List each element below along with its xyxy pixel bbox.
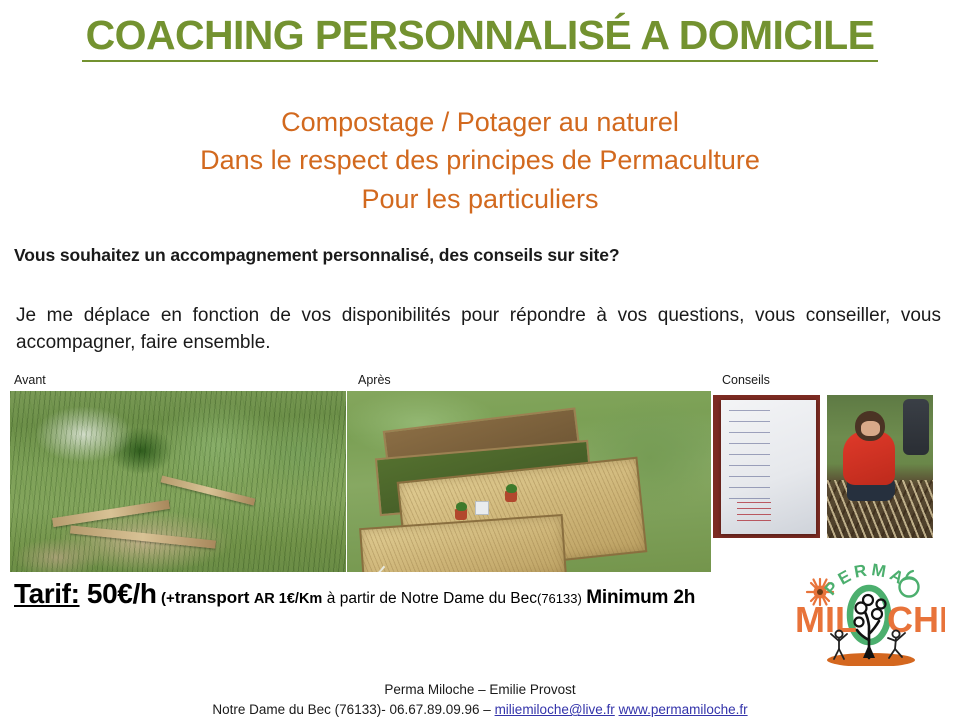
logo-word-right: CHE bbox=[887, 599, 945, 640]
pricing-line: Tarif: 50€/h (+transport AR 1€/Km à part… bbox=[14, 578, 814, 610]
footer-contact-text: Notre Dame du Bec (76133)- 06.67.89.09.9… bbox=[212, 702, 494, 717]
caption-conseils: Conseils bbox=[722, 373, 770, 387]
pricing-minimum: Minimum 2h bbox=[586, 587, 695, 608]
tree-trunk-base bbox=[863, 644, 875, 658]
photo-apres-plant-pot bbox=[455, 509, 467, 520]
pricing-paren-open: (+ bbox=[161, 590, 175, 607]
pricing-price bbox=[80, 578, 87, 609]
subtitle-line-1: Compostage / Potager au naturel bbox=[0, 103, 960, 141]
brand-logo: PERMA MIL CHE bbox=[795, 548, 945, 666]
subtitle-block: Compostage / Potager au naturel Dans le … bbox=[0, 103, 960, 218]
caption-apres: Après bbox=[358, 373, 391, 387]
pricing-ar-rate: AR 1€/Km bbox=[254, 591, 323, 607]
caption-avant: Avant bbox=[14, 373, 46, 387]
title-block: COACHING PERSONNALISÉ A DOMICILE bbox=[0, 14, 960, 62]
pricing-origin: à partir de Notre Dame du Bec bbox=[327, 590, 537, 607]
subtitle-line-3: Pour les particuliers bbox=[0, 180, 960, 218]
photo-notes bbox=[713, 395, 820, 538]
pricing-transport: transport bbox=[175, 588, 250, 607]
photo-apres-white-pot bbox=[475, 501, 489, 515]
website-link[interactable]: www.permamiloche.fr bbox=[619, 702, 748, 717]
email-link[interactable]: miliemiloche@live.fr bbox=[495, 702, 615, 717]
footer: Perma Miloche – Emilie Provost Notre Dam… bbox=[0, 680, 960, 721]
footer-line-1: Perma Miloche – Emilie Provost bbox=[0, 680, 960, 700]
photo-avant bbox=[10, 391, 346, 572]
photo-notes-signature bbox=[737, 502, 771, 524]
page-title: COACHING PERSONNALISÉ A DOMICILE bbox=[82, 14, 879, 62]
photo-personne-background-figure bbox=[903, 399, 929, 455]
photo-personne-face bbox=[861, 421, 880, 436]
photo-apres-plant-pot bbox=[505, 491, 517, 502]
pricing-amount: 50€/h bbox=[87, 578, 157, 609]
photo-apres bbox=[347, 391, 711, 572]
pricing-zip: (76133) bbox=[537, 591, 582, 606]
pricing-label: Tarif: bbox=[14, 578, 80, 609]
photo-personne bbox=[827, 395, 933, 538]
footer-line-2: Notre Dame du Bec (76133)- 06.67.89.09.9… bbox=[0, 700, 960, 720]
logo-arc-text: PERMA bbox=[821, 560, 910, 599]
lead-question: Vous souhaitez un accompagnement personn… bbox=[14, 245, 944, 266]
subtitle-line-2: Dans le respect des principes de Permacu… bbox=[0, 141, 960, 179]
intro-paragraph: Je me déplace en fonction de vos disponi… bbox=[16, 303, 941, 357]
